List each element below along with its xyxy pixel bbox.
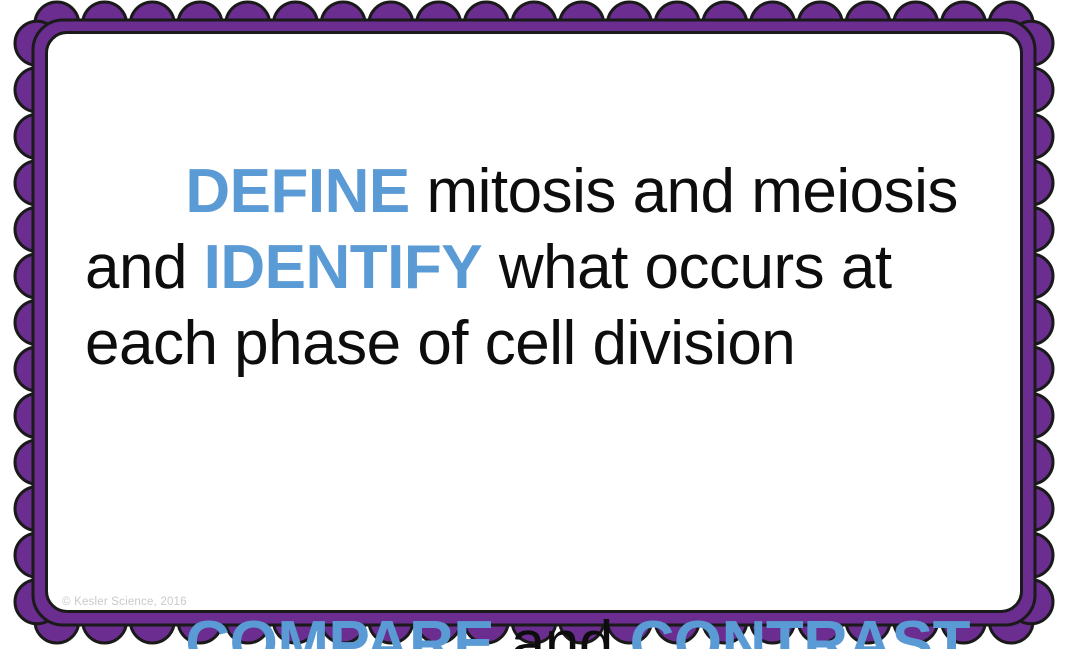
- objective-paragraph-1: DEFINE mitosis and meiosis and IDENTIFY …: [85, 78, 995, 458]
- slide-canvas: DEFINE mitosis and meiosis and IDENTIFY …: [0, 0, 1080, 649]
- keyword-identify: IDENTIFY: [204, 233, 482, 302]
- keyword-contrast: CONTRAST: [630, 609, 970, 649]
- keyword-define: DEFINE: [185, 157, 409, 226]
- copyright-notice: © Kesler Science, 2016: [62, 596, 187, 608]
- objectives-text-block: DEFINE mitosis and meiosis and IDENTIFY …: [85, 78, 995, 649]
- objective-2-text-a: and: [494, 609, 629, 649]
- keyword-compare: COMPARE: [185, 609, 494, 649]
- objective-paragraph-2: COMPARE and CONTRAST mitosis and meiosis: [85, 530, 995, 649]
